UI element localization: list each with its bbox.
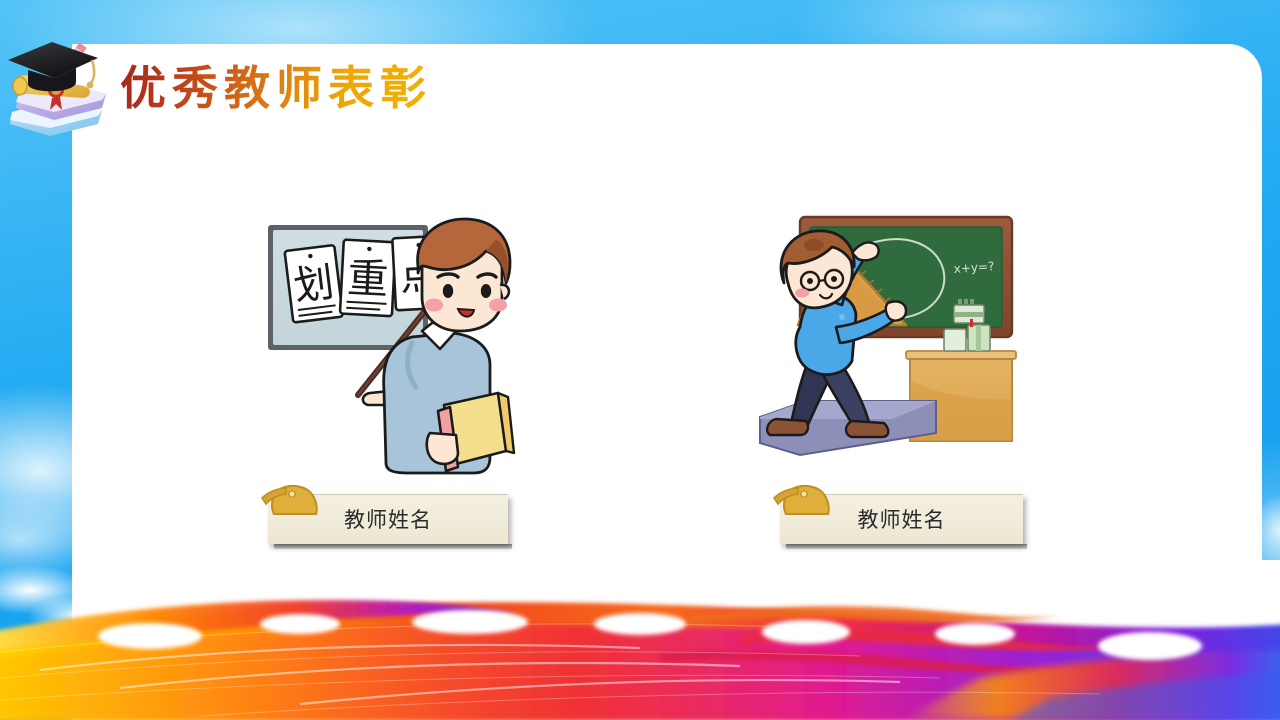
cloud-decoration-right <box>1240 470 1280 590</box>
graduation-cap-books-icon <box>2 24 110 136</box>
page-title: 优秀教师表彰 <box>120 60 432 118</box>
chalkboard-equation: x+y=? <box>953 259 995 276</box>
svg-text:划: 划 <box>291 260 336 311</box>
slide-canvas: 优秀教师表彰 划 <box>0 0 1280 720</box>
svg-text:重: 重 <box>346 254 389 304</box>
colorful-paint-strokes <box>0 520 1280 720</box>
teacher-pointing-whiteboard-illustration: 划 重 点 <box>262 215 572 480</box>
clipboard-clip-icon <box>260 480 328 520</box>
teacher-triangle-ruler-chalkboard-illustration: x+y=? <box>758 205 1038 475</box>
clipboard-clip-icon <box>772 480 840 520</box>
